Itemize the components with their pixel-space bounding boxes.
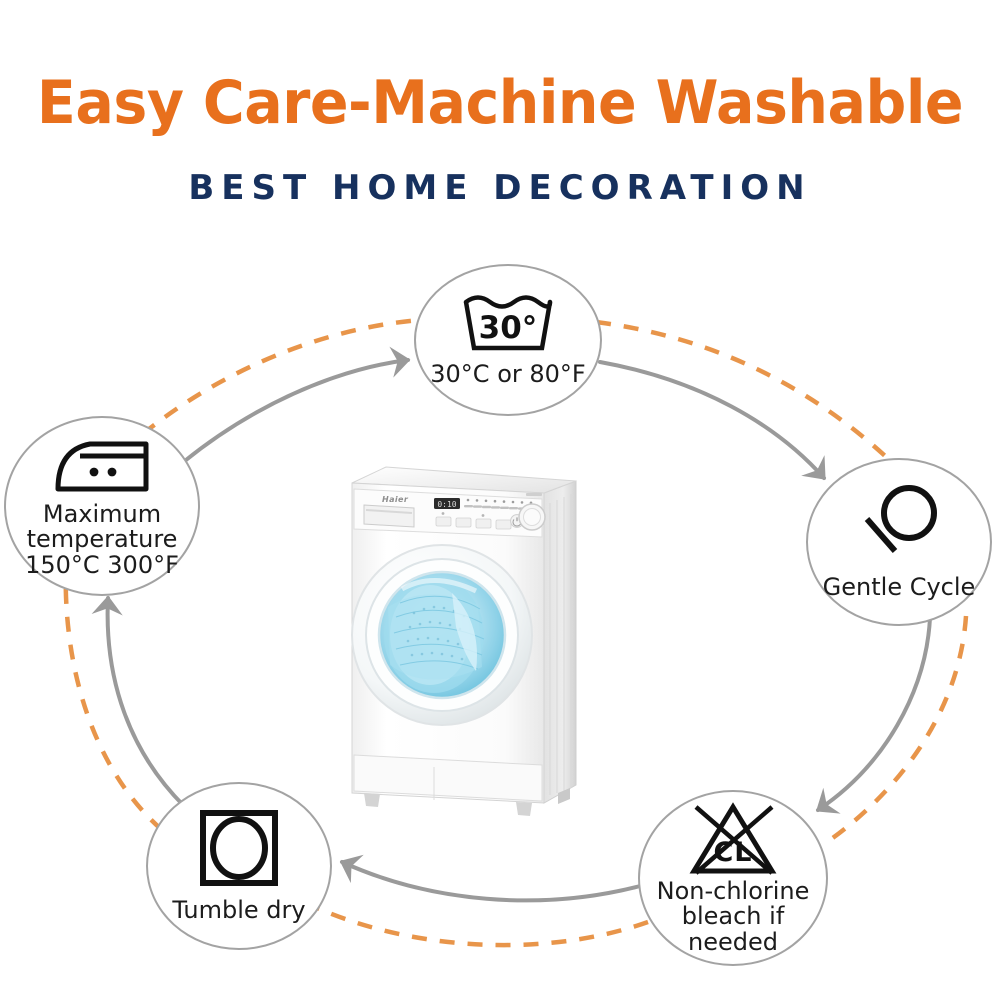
model-label [526,493,542,496]
washer-foot-right [516,802,532,816]
care-node-iron-label: Maximum temperature 150°C 300°F [25,502,179,578]
arrow-gentle-to-bleach [818,618,930,810]
care-node-bleach-label: Non-chlorine bleach if needed [657,879,810,955]
infographic-canvas: Easy Care-Machine Washable BEST HOME DEC… [0,0,1000,1000]
non-chlorine-bleach-icon: CL [686,801,780,877]
washer-foot-left [364,793,380,807]
led-display-value: 0:10 [437,500,456,509]
gentle-cycle-icon [853,483,945,563]
drum-interior [384,577,484,693]
wash-tub-30-icon: 30° [460,292,556,354]
care-node-gentle-cycle-label: Gentle Cycle [823,575,976,600]
arrow-tumble-to-iron [108,598,184,806]
wash-temp-value: 30° [479,310,538,346]
brand-logo: Haier [382,495,409,504]
dash-wash-to-gentle [596,322,900,470]
iron-two-dots-icon [50,434,154,496]
care-node-wash-label: 30°C or 80°F [430,362,585,387]
washing-machine-image: Haier 0:10 [330,455,660,840]
dash-tumble-to-iron [66,562,162,830]
tumble-dry-icon [198,808,280,888]
care-node-wash[interactable]: 30° 30°C or 80°F [414,264,602,416]
arrow-bleach-to-tumble [342,862,640,900]
care-node-tumble-dry[interactable]: Tumble dry [146,782,332,950]
dash-bleach-to-tumble [300,900,648,945]
care-node-iron[interactable]: Maximum temperature 150°C 300°F [4,416,200,596]
care-node-gentle-cycle[interactable]: Gentle Cycle [806,458,992,626]
care-node-bleach[interactable]: CL Non-chlorine bleach if needed [638,790,828,966]
care-node-tumble-dry-label: Tumble dry [172,898,305,923]
dash-gentle-to-bleach [830,616,966,840]
detergent-drawer [364,505,414,527]
